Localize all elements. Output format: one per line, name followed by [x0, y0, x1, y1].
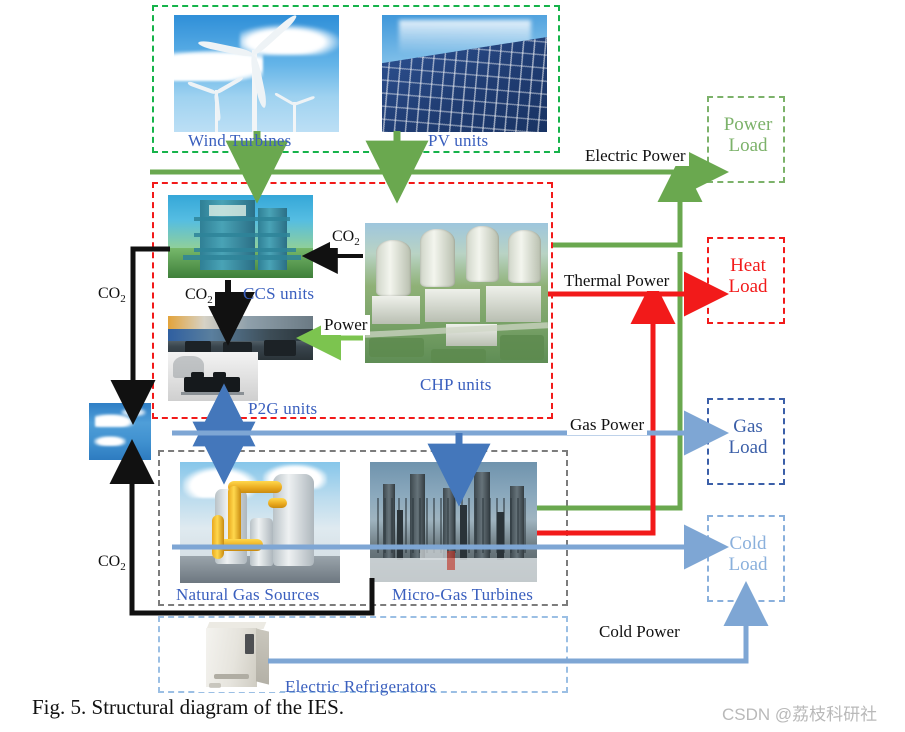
solar-panel-photo [382, 15, 547, 132]
watermark: CSDN @荔枝科研社 [722, 700, 877, 725]
co2-label-ccs-to-atmosphere: CO2 [96, 285, 128, 305]
flow-label-cold-power: Cold Power [596, 622, 683, 642]
load-label-cold: Cold Load [709, 533, 787, 576]
figure-caption: Fig. 5. Structural diagram of the IES. [32, 695, 344, 720]
co2-sub-3: 2 [120, 293, 126, 305]
load-label-power-line1: Power [724, 114, 773, 135]
caption-natural-gas-sources: Natural Gas Sources [176, 585, 320, 605]
co2-sub-1: 2 [354, 236, 360, 248]
figure-canvas: Power Load Heat Load Gas Load Cold Load [0, 0, 905, 732]
co2-sub-4: 2 [120, 561, 126, 573]
micro-gas-turbine-photo [370, 462, 537, 582]
caption-pv-units: PV units [428, 131, 488, 151]
natural-gas-plant-photo [180, 462, 340, 583]
power-to-gas-machine-photo [168, 352, 258, 401]
flow-label-electric-power: Electric Power [582, 146, 689, 166]
refrigerator-photo [198, 618, 280, 692]
load-label-gas-line1: Gas [733, 416, 763, 437]
co2-sub-2: 2 [207, 294, 213, 306]
caption-wind-turbines: Wind Turbines [188, 131, 291, 151]
co2-text-3: CO [98, 285, 120, 302]
caption-electric-refrigerators: Electric Refrigerators [285, 677, 436, 697]
co2-label-ccs-to-p2g: CO2 [183, 286, 215, 306]
load-label-cold-line1: Cold [730, 533, 767, 554]
caption-micro-gas-turbines: Micro-Gas Turbines [392, 585, 533, 605]
load-label-heat-line1: Heat [730, 255, 766, 276]
flow-label-gas-power: Gas Power [567, 415, 647, 435]
load-box-cold[interactable]: Cold Load [707, 515, 785, 602]
load-box-gas[interactable]: Gas Load [707, 398, 785, 485]
co2-text-2: CO [185, 286, 207, 303]
co2-label-mgt-to-atmosphere: CO2 [96, 553, 128, 573]
load-label-gas-line2: Load [728, 437, 767, 458]
co2-text-1: CO [332, 228, 354, 245]
cogeneration-plant-photo [365, 223, 548, 363]
atmosphere-sky-photo [89, 403, 151, 460]
wire-chp-electric-riser [553, 186, 680, 245]
load-label-gas: Gas Load [709, 416, 787, 459]
flow-label-thermal-power: Thermal Power [561, 271, 672, 291]
load-label-power-line2: Load [728, 135, 767, 156]
load-label-heat: Heat Load [709, 255, 787, 298]
caption-ccs-units: CCS units [243, 284, 314, 304]
carbon-capture-plant-photo [168, 195, 313, 278]
co2-text-4: CO [98, 553, 120, 570]
load-label-heat-line2: Load [728, 276, 767, 297]
load-box-power[interactable]: Power Load [707, 96, 785, 183]
flow-label-power-to-p2g: Power [321, 315, 370, 335]
wind-turbine-photo [174, 15, 339, 132]
caption-p2g-units: P2G units [248, 399, 317, 419]
load-label-power: Power Load [709, 114, 787, 157]
load-box-heat[interactable]: Heat Load [707, 237, 785, 324]
caption-chp-units: CHP units [420, 375, 492, 395]
load-label-cold-line2: Load [728, 554, 767, 575]
co2-label-chp-to-ccs: CO2 [330, 228, 362, 248]
